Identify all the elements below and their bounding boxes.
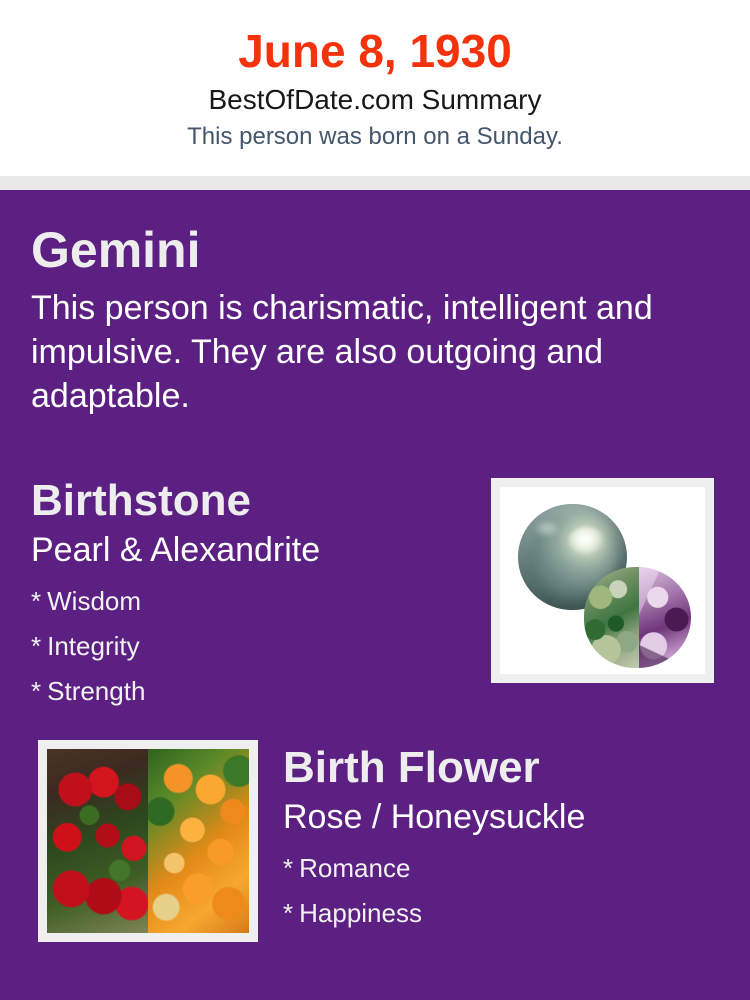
list-item: *Romance [283,846,723,891]
birthstone-photo [500,487,705,674]
trait-label: Happiness [299,898,422,928]
birth-flower-heading: Birth Flower [283,742,723,794]
list-item: *Strength [31,669,461,714]
bullet-star-icon: * [283,846,299,891]
birthstone-photo-frame [491,478,714,683]
site-summary-label: BestOfDate.com Summary [0,80,750,118]
alexandrite-rough-half [584,567,639,668]
zodiac-description: This person is charismatic, intelligent … [31,280,691,418]
trait-label: Integrity [47,631,140,661]
honeysuckle-photo-half [148,749,249,933]
zodiac-section: Gemini This person is charismatic, intel… [31,220,711,418]
birthstone-heading: Birthstone [31,475,461,527]
birthstone-trait-list: *Wisdom *Integrity *Strength [31,571,461,714]
bullet-star-icon: * [31,624,47,669]
birth-flower-photo-frame [38,740,258,942]
header: June 8, 1930 BestOfDate.com Summary This… [0,0,750,176]
birth-weekday-note: This person was born on a Sunday. [0,118,750,152]
bullet-star-icon: * [31,579,47,624]
birth-flower-name: Rose / Honeysuckle [283,794,723,838]
alexandrite-faceted-half [639,567,690,668]
bullet-star-icon: * [283,891,299,936]
alexandrite-gem-image [584,567,691,668]
page-title: June 8, 1930 [0,0,750,80]
trait-label: Wisdom [47,586,141,616]
content-body: Gemini This person is charismatic, intel… [0,190,750,1000]
summary-card: June 8, 1930 BestOfDate.com Summary This… [0,0,750,1000]
header-divider [0,176,750,190]
trait-label: Strength [47,676,145,706]
birth-flower-photo [47,749,249,933]
birthstone-section: Birthstone Pearl & Alexandrite *Wisdom *… [31,475,461,714]
rose-photo-half [47,749,148,933]
pearl-secondary-highlight [536,521,558,536]
list-item: *Wisdom [31,579,461,624]
pearl-highlight [568,527,605,555]
list-item: *Happiness [283,891,723,936]
birthstone-name: Pearl & Alexandrite [31,527,461,571]
birth-flower-trait-list: *Romance *Happiness [283,838,723,936]
bullet-star-icon: * [31,669,47,714]
trait-label: Romance [299,853,410,883]
zodiac-sign-title: Gemini [31,220,711,280]
list-item: *Integrity [31,624,461,669]
birth-flower-section: Birth Flower Rose / Honeysuckle *Romance… [283,742,723,936]
